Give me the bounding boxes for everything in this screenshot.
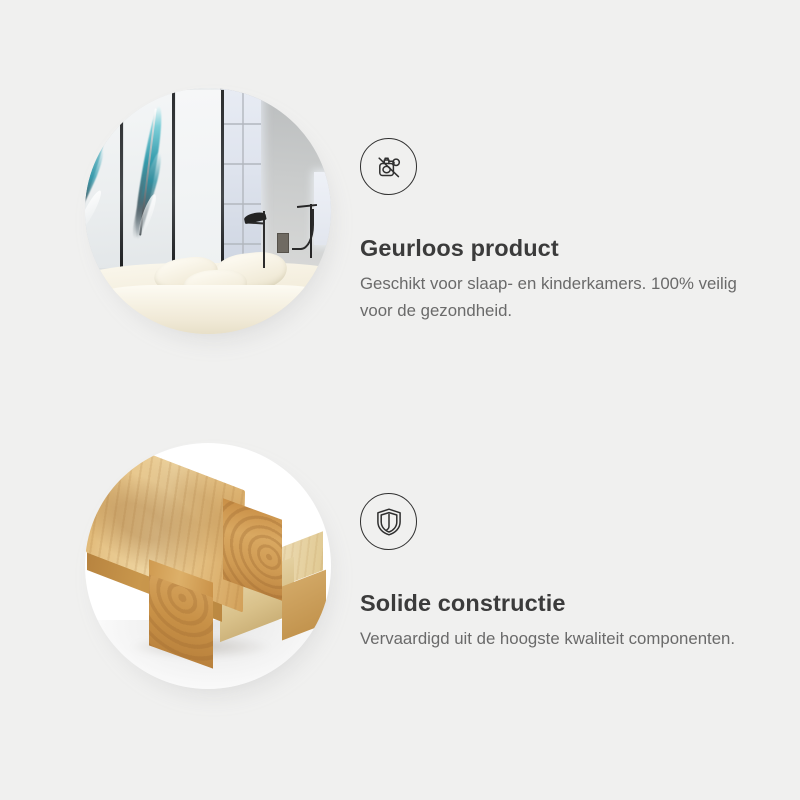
feature-description: Geschikt voor slaap- en kinderkamers. 10…: [360, 271, 746, 325]
no-fragrance-icon: [360, 138, 417, 195]
bedroom-scene: [85, 88, 331, 334]
wall-lamp-pole: [310, 204, 312, 258]
feature-block-solid-construction: Solide constructie Vervaardigd uit de ho…: [0, 405, 800, 755]
art-panel-1: [85, 90, 121, 267]
art-panel-2: [124, 90, 173, 267]
feature-title: Geurloos product: [360, 234, 760, 262]
wooden-beams-photo: [85, 443, 331, 689]
feature-block-odourless-product: Geurloos product Geschikt voor slaap- en…: [0, 50, 800, 400]
art-panel-3: [176, 90, 222, 267]
wood-scene: [85, 443, 331, 689]
panel-divider: [221, 90, 224, 267]
window-small: [314, 172, 331, 246]
feather-triptych: [85, 90, 228, 267]
product-feature-page: Geurloos product Geschikt voor slaap- en…: [0, 0, 800, 800]
feature-text-odourless-product: Geurloos product Geschikt voor slaap- en…: [360, 138, 760, 325]
duvet: [85, 285, 331, 334]
feature-description: Vervaardigd uit de hoogste kwaliteit com…: [360, 626, 746, 653]
window-tall: [224, 88, 261, 265]
feature-title: Solide constructie: [360, 589, 760, 617]
picture-frame: [277, 233, 289, 253]
feature-text-solid-construction: Solide constructie Vervaardigd uit de ho…: [360, 493, 760, 653]
shield-icon: [360, 493, 417, 550]
panel-divider: [120, 90, 123, 267]
bedroom-feather-triptych-photo: [85, 88, 331, 334]
panel-divider: [172, 90, 175, 267]
